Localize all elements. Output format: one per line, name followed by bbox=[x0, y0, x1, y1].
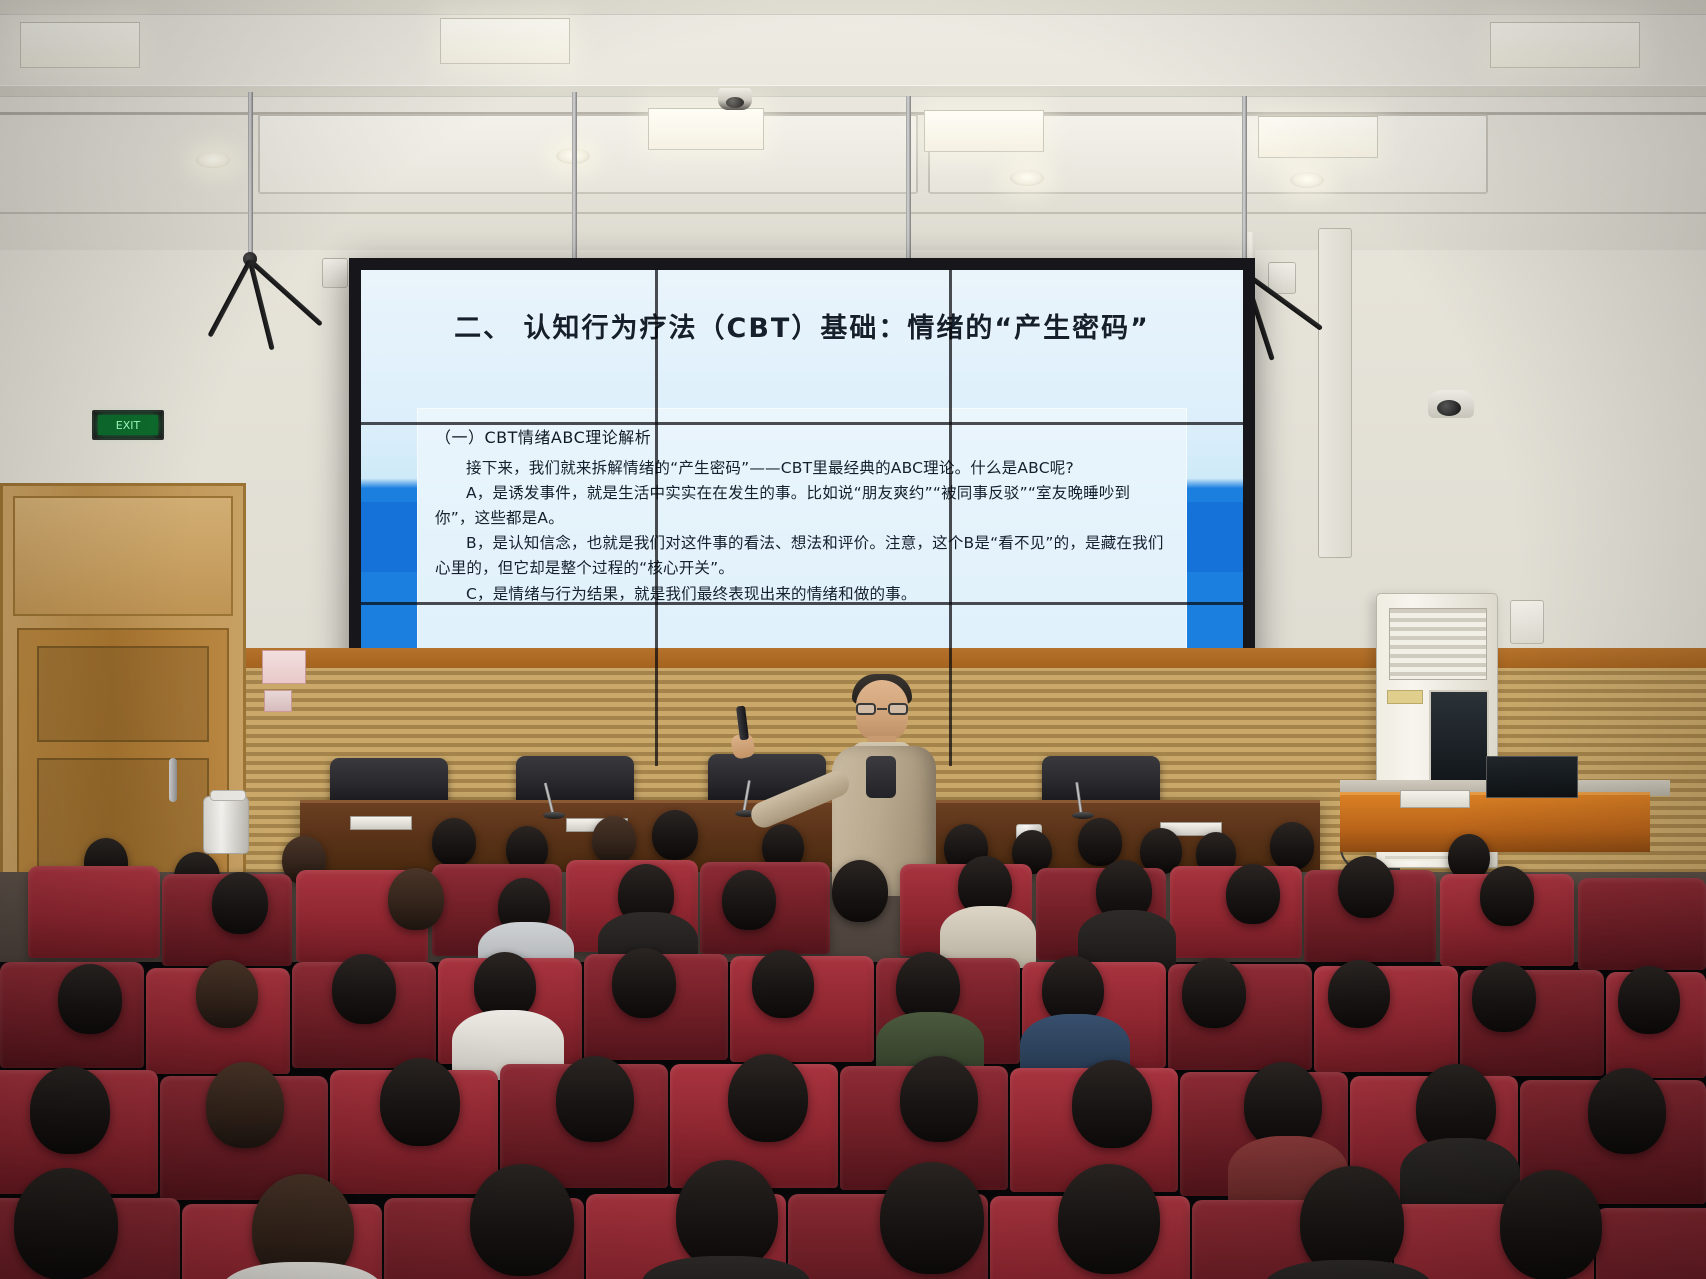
downlight-4 bbox=[1290, 172, 1324, 188]
audience-head bbox=[612, 948, 676, 1018]
side-table-equipment bbox=[1400, 790, 1470, 808]
audience-head bbox=[1472, 962, 1536, 1032]
audience-head bbox=[1588, 1068, 1666, 1154]
audience-head bbox=[880, 1162, 984, 1274]
ceiling-light-1 bbox=[20, 22, 140, 68]
slide-paragraph-a: A，是诱发事件，就是生活中实实在在发生的事。比如说“朋友爽约”“被同事反驳”“室… bbox=[435, 481, 1169, 531]
audience-head bbox=[332, 954, 396, 1024]
audience-head bbox=[470, 1164, 574, 1276]
ceiling-light-5 bbox=[1258, 116, 1378, 158]
audience-head bbox=[1270, 822, 1314, 870]
ceiling-seam-2 bbox=[0, 212, 1706, 214]
audience-head bbox=[1328, 960, 1390, 1028]
audience-head bbox=[196, 960, 258, 1028]
wall-switch-panel bbox=[1510, 600, 1544, 644]
wall-poster-2 bbox=[264, 690, 292, 712]
exit-sign-label: EXIT bbox=[116, 420, 140, 431]
ceiling-light-3 bbox=[648, 108, 764, 150]
ceiling-band-mid bbox=[0, 86, 1706, 96]
audience bbox=[0, 812, 1706, 1279]
audience-head bbox=[1480, 866, 1534, 926]
ceiling-band-top bbox=[0, 0, 1706, 14]
ceiling-light-2 bbox=[440, 18, 570, 64]
slide-blue-bar-left bbox=[361, 502, 417, 572]
ceiling-camera-icon bbox=[718, 88, 752, 110]
ceiling-light-4 bbox=[924, 110, 1044, 152]
audience-head bbox=[206, 1062, 284, 1148]
downlight-3 bbox=[1010, 170, 1044, 186]
audience-head bbox=[728, 1054, 808, 1142]
audience-head bbox=[1500, 1170, 1602, 1279]
downlight-1 bbox=[196, 152, 230, 168]
audience-head bbox=[592, 816, 636, 864]
wall-plate-left bbox=[322, 258, 348, 288]
audience-head bbox=[752, 950, 814, 1018]
audience-head bbox=[1058, 1164, 1160, 1274]
audience-head bbox=[58, 964, 122, 1034]
audience-head bbox=[1072, 1060, 1152, 1148]
audience-head bbox=[1338, 856, 1394, 918]
slide-section-heading: （一）CBT情绪ABC理论解析 bbox=[435, 424, 1169, 448]
side-table-monitor bbox=[1486, 756, 1578, 798]
audience-head bbox=[900, 1056, 978, 1142]
audience-seat[interactable] bbox=[28, 866, 160, 958]
slide-blue-bar-right bbox=[1187, 502, 1243, 572]
audience-seat[interactable] bbox=[1596, 1208, 1706, 1279]
door-transom-panel bbox=[13, 496, 233, 616]
audience-head bbox=[676, 1160, 778, 1270]
audience-seat[interactable] bbox=[1578, 878, 1706, 970]
exit-sign: EXIT bbox=[92, 410, 164, 440]
ac-sticker-label bbox=[1387, 690, 1423, 704]
audience-head bbox=[14, 1168, 118, 1279]
wall-panel-right bbox=[1318, 228, 1352, 558]
audience-head bbox=[1182, 958, 1246, 1028]
slide-title: 二、 认知行为疗法（CBT）基础：情绪的“产生密码” bbox=[361, 306, 1243, 345]
audience-head bbox=[1078, 818, 1122, 866]
ceiling-light-6 bbox=[1490, 22, 1640, 68]
audience-head bbox=[1618, 966, 1680, 1034]
lecture-hall-photo: 二、 认知行为疗法（CBT）基础：情绪的“产生密码” （一）CBT情绪ABC理论… bbox=[0, 0, 1706, 1279]
audience-head bbox=[722, 870, 776, 930]
audience-head bbox=[652, 810, 698, 860]
slide-paragraph-c: C，是情绪与行为结果，就是我们最终表现出来的情绪和做的事。 bbox=[435, 582, 1169, 607]
audience-head bbox=[832, 860, 888, 922]
audience-head bbox=[30, 1066, 110, 1154]
audience-head bbox=[212, 872, 268, 934]
presenter-inner-shirt bbox=[866, 756, 896, 798]
audience-head bbox=[380, 1058, 460, 1146]
audience-head bbox=[556, 1056, 634, 1142]
audience-head bbox=[388, 868, 444, 930]
wall-poster bbox=[262, 650, 306, 684]
ac-vent-grille bbox=[1389, 608, 1487, 680]
slide-paragraph-intro: 接下来，我们就来拆解情绪的“产生密码”——CBT里最经典的ABC理论。什么是AB… bbox=[435, 456, 1169, 481]
door-panel-upper bbox=[37, 646, 209, 742]
door-handle[interactable] bbox=[169, 758, 177, 802]
wall-camera-icon bbox=[1428, 390, 1474, 418]
audience-head bbox=[1226, 864, 1280, 924]
glasses-icon bbox=[856, 703, 908, 715]
ac-display-panel[interactable] bbox=[1429, 690, 1489, 786]
audience-head bbox=[432, 818, 476, 866]
slide-paragraph-b: B，是认知信念，也就是我们对这件事的看法、想法和评价。注意，这个B是“看不见”的… bbox=[435, 531, 1169, 581]
